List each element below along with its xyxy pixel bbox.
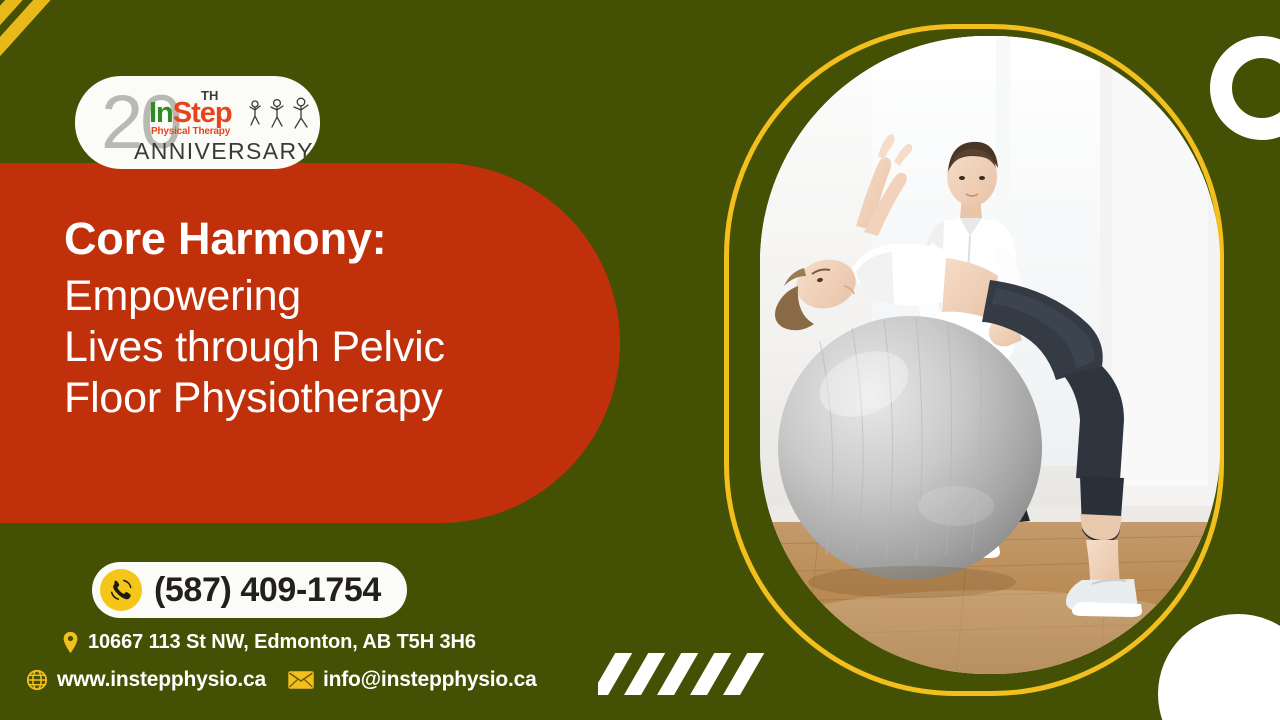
diagonal-stripes-icon xyxy=(0,0,110,94)
envelope-icon xyxy=(288,671,314,689)
location-pin-icon xyxy=(62,631,79,654)
logo-tagline: Physical Therapy xyxy=(151,126,230,137)
headline-line-4: Floor Physiotherapy xyxy=(64,373,584,424)
email-link[interactable]: info@instepphysio.ca xyxy=(323,668,537,692)
hero-photo-container xyxy=(760,36,1220,674)
circle-outline-icon xyxy=(1210,36,1280,140)
address-text: 10667 113 St NW, Edmonton, AB T5H 3H6 xyxy=(88,631,476,654)
website-link[interactable]: www.instepphysio.ca xyxy=(57,668,266,692)
page-title: Core Harmony: Empowering Lives through P… xyxy=(64,212,584,423)
phone-icon xyxy=(100,569,142,611)
diagonal-stripes-icon xyxy=(598,653,768,695)
globe-icon xyxy=(26,669,48,691)
hero-photo-illustration xyxy=(760,36,1220,674)
walking-figures-icon xyxy=(247,96,313,130)
headline-line-1: Core Harmony: xyxy=(64,212,584,265)
headline-line-2: Empowering xyxy=(64,271,584,322)
anniversary-word: ANNIVERSARY xyxy=(134,138,314,165)
hero-photo xyxy=(760,36,1220,674)
promo-banner: Core Harmony: Empowering Lives through P… xyxy=(0,0,1280,720)
logo-wordmark: InStep xyxy=(149,98,232,128)
address-line: 10667 113 St NW, Edmonton, AB T5H 3H6 xyxy=(62,631,476,654)
web-email-line: www.instepphysio.ca info@instepphysio.ca xyxy=(26,668,537,692)
company-logo[interactable]: 20 TH InStep Physical Therapy ANNIVERSAR… xyxy=(75,76,320,169)
headline-line-3: Lives through Pelvic xyxy=(64,322,584,373)
logo-word-in: In xyxy=(149,97,173,129)
phone-number: (587) 409-1754 xyxy=(154,571,381,610)
phone-cta[interactable]: (587) 409-1754 xyxy=(92,562,407,618)
logo-word-step: Step xyxy=(173,97,232,129)
